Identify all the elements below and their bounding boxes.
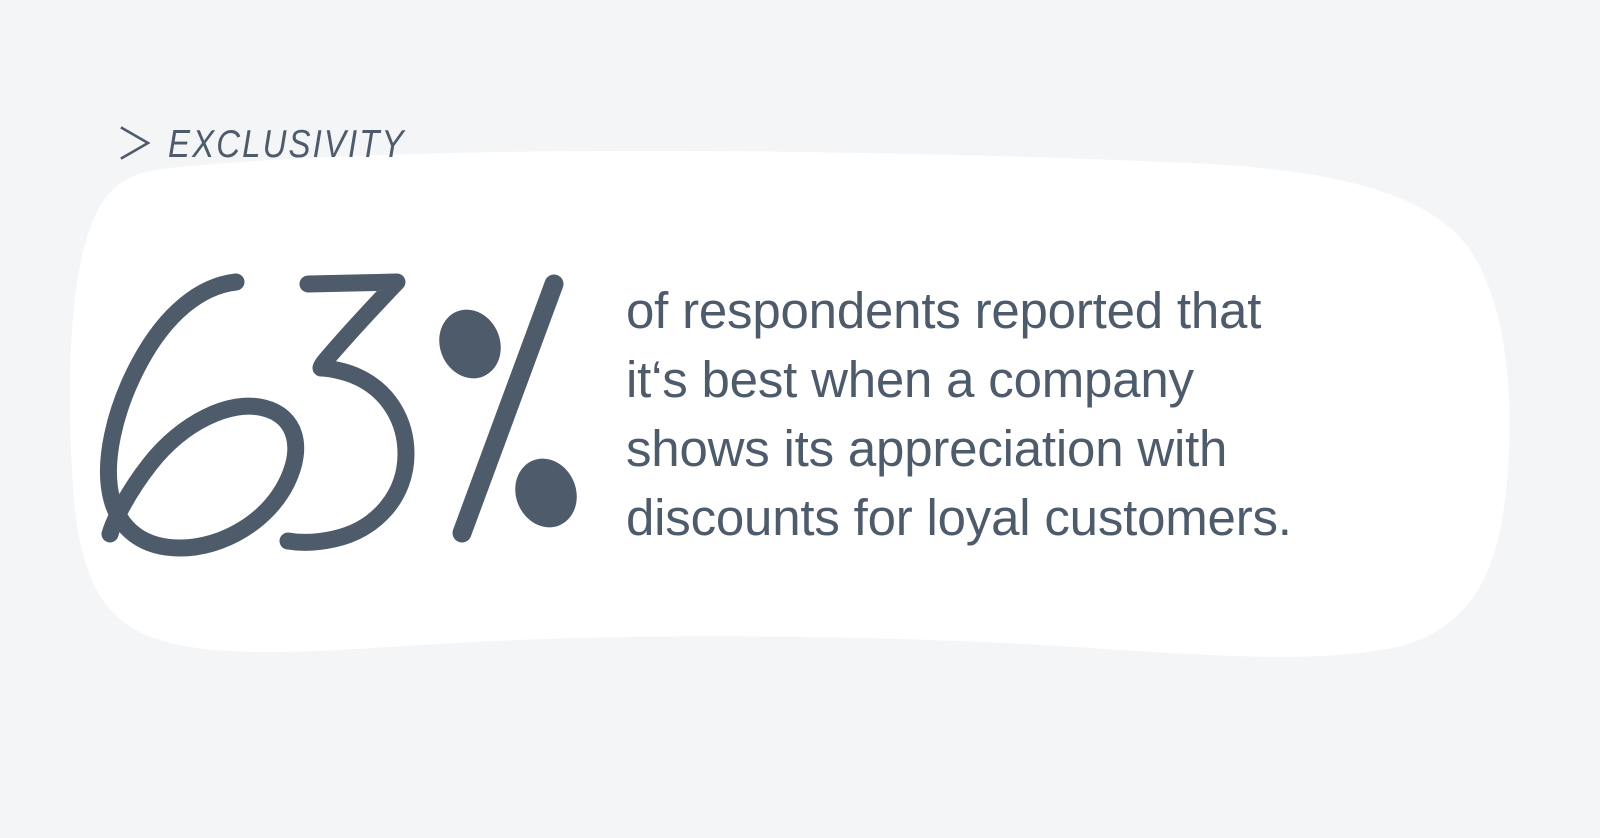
chevron-right-icon xyxy=(118,124,152,162)
statement-block: of respondents reported that it‘s best w… xyxy=(626,276,1456,552)
eyebrow-label: EXCLUSIVITY xyxy=(168,124,406,163)
eyebrow: EXCLUSIVITY xyxy=(118,124,406,162)
statement-line: shows its appreciation with xyxy=(626,414,1456,483)
stat-value-figure: 63% xyxy=(88,258,608,558)
percent-glyph xyxy=(429,284,587,537)
statement-line: of respondents reported that xyxy=(626,276,1456,345)
statement-line: it‘s best when a company xyxy=(626,345,1456,414)
stat-callout-slide: EXCLUSIVITY 63% of respondents reported … xyxy=(0,0,1600,838)
statement-line: discounts for loyal customers. xyxy=(626,483,1456,552)
